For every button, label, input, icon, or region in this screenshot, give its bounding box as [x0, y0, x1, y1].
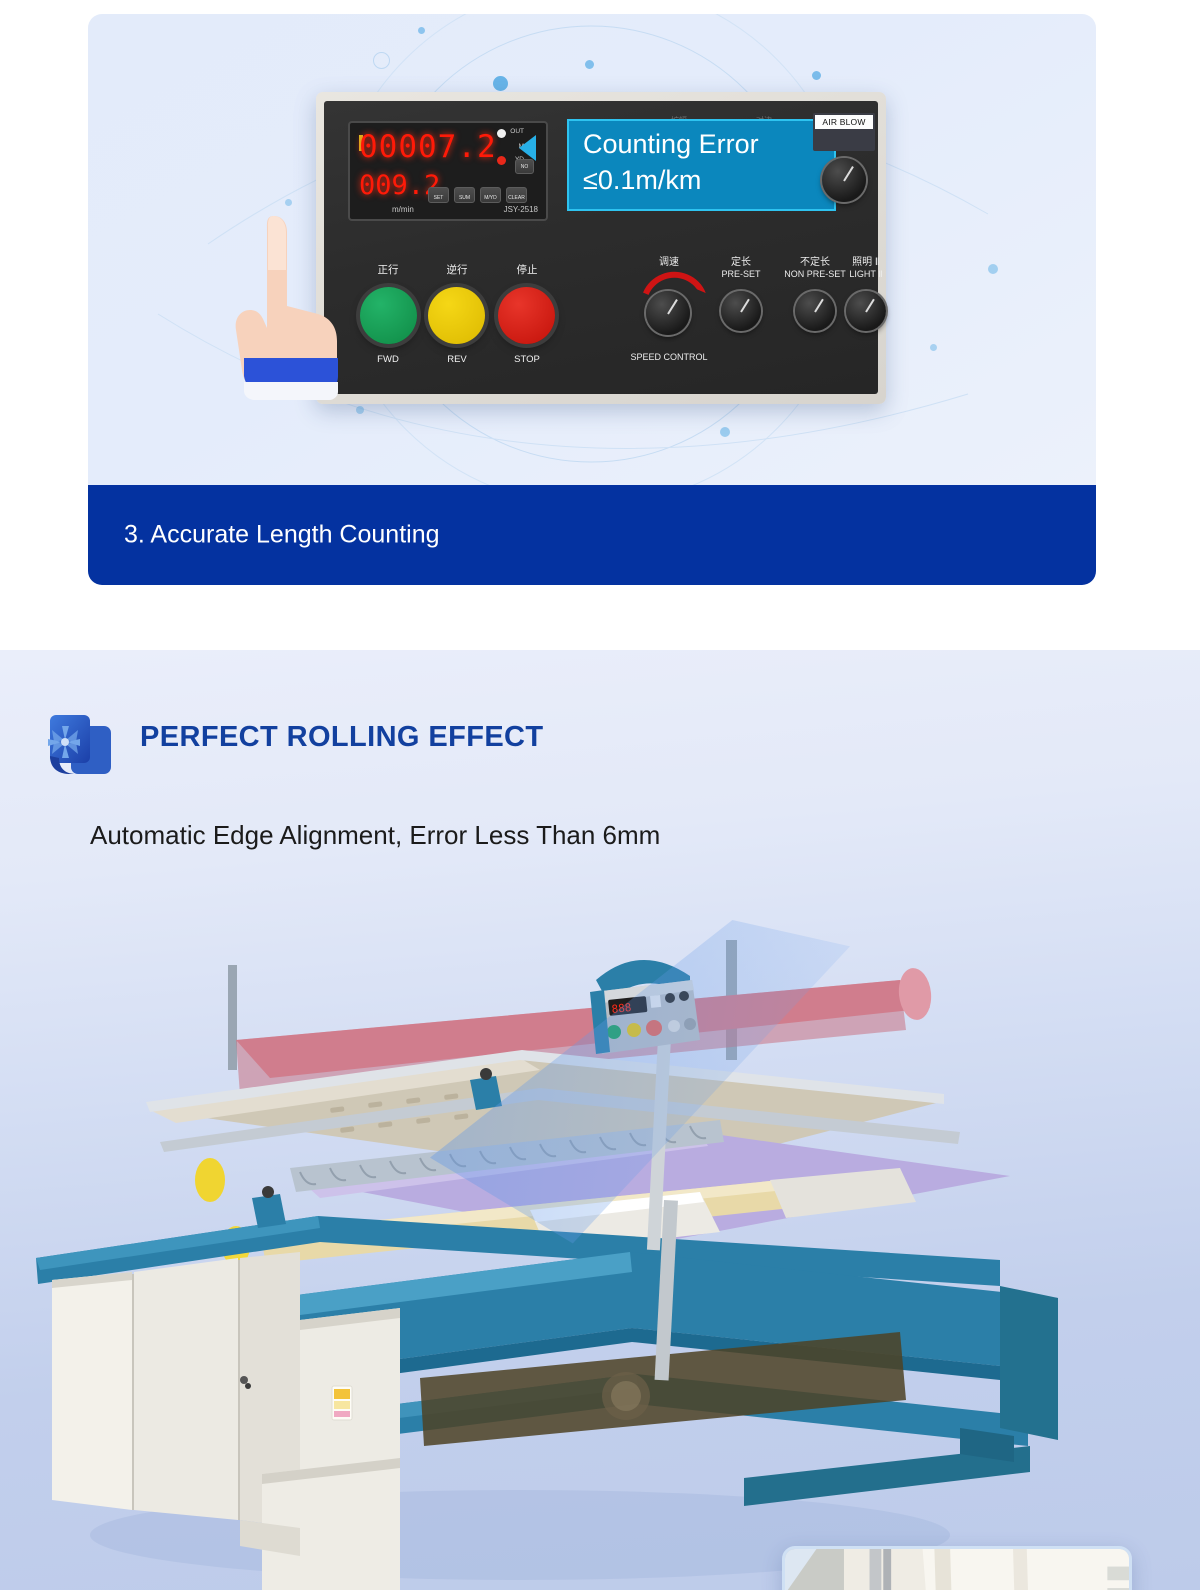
- counter-key-clear[interactable]: CLEAR: [506, 187, 527, 203]
- counter-key-no[interactable]: NO: [515, 159, 534, 174]
- section-heading: PERFECT ROLLING EFFECT: [140, 721, 544, 754]
- counter-unit-label: m/min: [392, 205, 414, 214]
- deco-ring: [373, 52, 390, 69]
- section-subtitle: Automatic Edge Alignment, Error Less Tha…: [90, 820, 660, 851]
- callout-line-2: ≤0.1m/km: [583, 165, 701, 196]
- control-panel: 00007.2 009.2 m/min JSY-2518 OUT M YD NO…: [316, 92, 886, 404]
- control-panel-face: 00007.2 009.2 m/min JSY-2518 OUT M YD NO…: [324, 101, 878, 394]
- fwd-button[interactable]: [360, 287, 417, 344]
- closeup-illustration: [785, 1549, 1129, 1590]
- non-preset-knob[interactable]: [795, 291, 835, 331]
- counter-key-myd[interactable]: M/YD: [480, 187, 501, 203]
- deco-dot: [285, 199, 292, 206]
- pointing-hand-icon: [230, 210, 350, 400]
- knob-label-light2-cn: 照明 Ⅱ: [831, 253, 901, 268]
- section-banner: 3. Accurate Length Counting: [88, 485, 1096, 585]
- knob-label-preset-en: PRE-SET: [705, 269, 777, 279]
- counter-key-sum[interactable]: SUM: [454, 187, 475, 203]
- accurate-length-counting-section: 00007.2 009.2 m/min JSY-2518 OUT M YD NO…: [0, 0, 1200, 650]
- deco-dot: [493, 76, 508, 91]
- indicator-out: OUT: [510, 128, 524, 135]
- status-lamp-out-icon: [497, 129, 506, 138]
- deco-dot: [585, 60, 594, 69]
- fabric-roll-sparkle-icon: [40, 712, 122, 780]
- deco-dot: [812, 71, 821, 80]
- deco-dot: [418, 27, 425, 34]
- speed-control-knob[interactable]: [646, 291, 690, 335]
- button-label-fwd-cn: 正行: [353, 262, 423, 277]
- status-lamp-yd-icon: [497, 156, 506, 165]
- knob-label-preset-cn: 定长: [709, 253, 773, 268]
- light-two-knob[interactable]: [846, 291, 886, 331]
- preset-knob[interactable]: [721, 291, 761, 331]
- air-blow-knob[interactable]: [822, 158, 866, 202]
- perfect-rolling-effect-section: PERFECT ROLLING EFFECT Automatic Edge Al…: [0, 650, 1200, 1590]
- stop-button[interactable]: [498, 287, 555, 344]
- deco-dot: [930, 344, 937, 351]
- edge-alignment-closeup-photo: [782, 1546, 1132, 1590]
- led-counter-module: 00007.2 009.2 m/min JSY-2518 OUT M YD NO…: [348, 121, 548, 221]
- counter-key-set[interactable]: SET: [428, 187, 449, 203]
- machine-illustration: 888: [0, 880, 1200, 1590]
- deco-dot: [988, 264, 998, 274]
- banner-title: 3. Accurate Length Counting: [124, 521, 440, 550]
- pointer-arrow-icon: [519, 135, 536, 161]
- air-blow-plate: AIR BLOW: [813, 113, 875, 151]
- rev-button[interactable]: [428, 287, 485, 344]
- air-blow-label: AIR BLOW: [815, 115, 873, 129]
- button-label-rev-cn: 逆行: [422, 262, 492, 277]
- button-label-rev-en: REV: [422, 354, 492, 365]
- counting-error-callout: Counting Error ≤0.1m/km: [567, 119, 836, 211]
- deco-dot: [356, 406, 364, 414]
- button-label-fwd-en: FWD: [353, 354, 423, 365]
- counter-model-label: JSY-2518: [504, 205, 538, 214]
- counter-main-value: 00007.2: [359, 129, 497, 165]
- button-label-stop-en: STOP: [492, 354, 562, 365]
- knob-label-light2-en: LIGHT Ⅱ: [831, 269, 901, 280]
- knob-label-speed-cn: 调速: [634, 253, 704, 268]
- deco-dot: [720, 427, 730, 437]
- fabric-rolling-machine-svg: 888: [0, 880, 1200, 1590]
- callout-line-1: Counting Error: [583, 129, 759, 160]
- button-label-stop-cn: 停止: [492, 262, 562, 277]
- knob-label-speed-en: SPEED CONTROL: [622, 352, 716, 362]
